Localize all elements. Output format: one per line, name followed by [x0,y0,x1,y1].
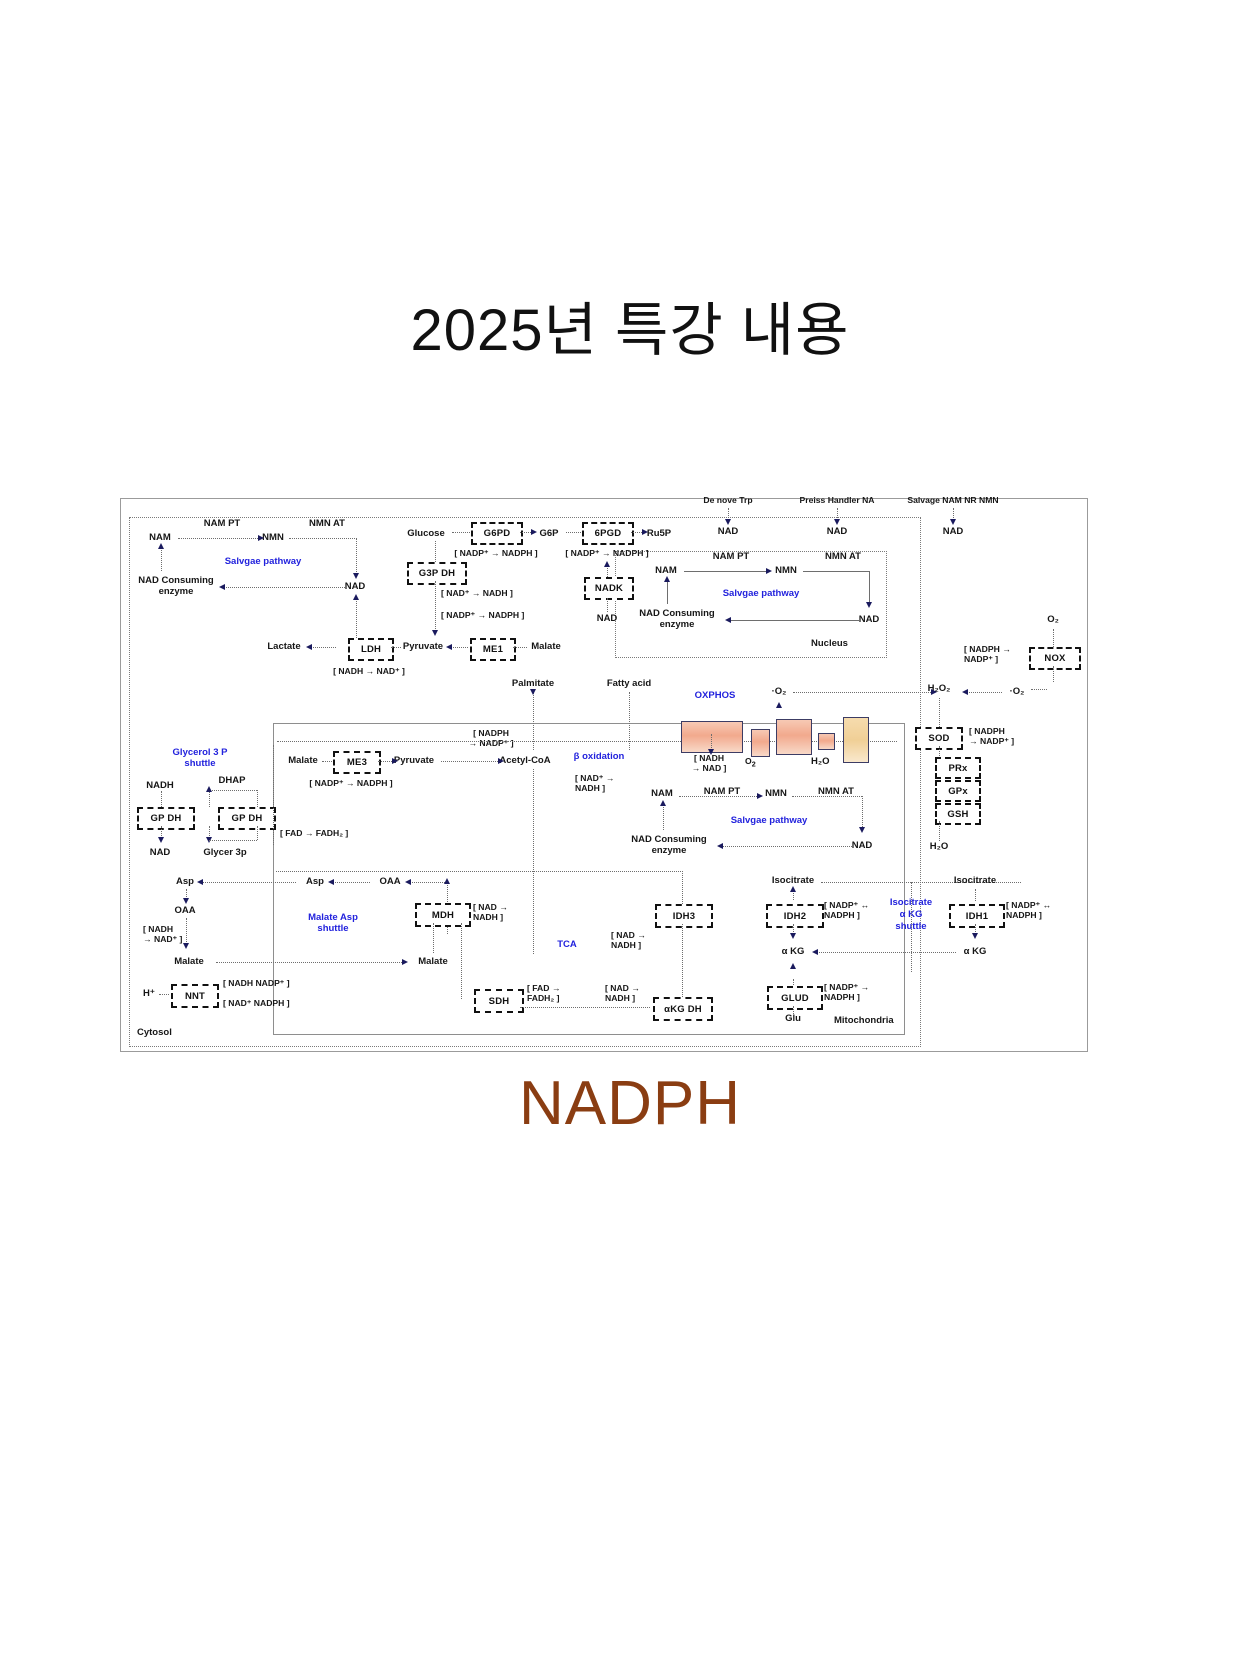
nox-cofactor-label: [ NADPH → NADP⁺ ] [964,645,1011,665]
nad-source-3-label: NAD [943,527,964,538]
salvage-source-label: Salvage NAM NR NMN [907,496,998,506]
asp-nadh-cofactor-label: [ NADH → NAD⁺ ] [143,925,182,945]
nad-gp-label: NAD [150,848,171,859]
salvage-pathway-cytosol-label: Salvgae pathway [225,557,302,568]
glud-cofactor-label: [ NADP⁺ → NADPH ] [824,983,869,1003]
prx-label: PRx [948,763,967,774]
preiss-handler-label: Preiss Handler NA [800,496,875,506]
g3pdh-label: G3P DH [419,568,455,579]
ldh-cofactor-label: [ NADH → NAD⁺ ] [333,667,405,677]
gpdh-fad-label: [ FAD → FADH₂ ] [280,829,348,839]
h2o-oxphos-label: H₂O [811,757,829,768]
gpx-label: GPx [948,786,968,797]
de-novo-trp-label: De nove Trp [703,496,752,506]
superoxide-mito-label: ·O₂ [772,687,787,698]
g6pd-label: G6PD [484,528,511,539]
oxphos-complex-iii [776,719,812,755]
idh3-enzyme-box[interactable]: IDH3 [655,904,713,928]
malate-mito-label: Malate [418,957,448,968]
idh1-cofactor-label: [ NADP⁺ ↔ NADPH ] [1006,901,1051,921]
idh1-label: IDH1 [966,911,988,922]
nadk-enzyme-box[interactable]: NADK [584,577,634,600]
nnt-top-cofactor-label: [ NADH NADP⁺ ] [223,979,290,989]
me1-label: ME1 [483,644,503,655]
6pgd-enzyme-box[interactable]: 6PGD [582,522,634,545]
g3pdh-enzyme-box[interactable]: G3P DH [407,562,467,585]
superoxide-cytosol-label: ·O₂ [1010,687,1025,698]
nadh-gp-label: NADH [146,781,173,792]
sdh-enzyme-box[interactable]: SDH [474,989,524,1013]
salvage-pathway-nucleus-label: Salvgae pathway [723,589,800,600]
akgdh-label: αKG DH [664,1004,702,1015]
salvage-pathway-mito-label: Salvgae pathway [731,816,808,827]
nad-mito-label: NAD [852,841,873,852]
akg-cytosol-label: α KG [964,947,987,958]
g6pd-enzyme-box[interactable]: G6PD [471,522,523,545]
cytosol-label: Cytosol [137,1028,172,1039]
nad-consuming-enzyme-mito-label: NAD Consuming enzyme [631,835,706,857]
lactate-label: Lactate [267,642,300,653]
isocitrate-cytosol-label: Isocitrate [954,876,996,887]
complex-iv-o2-label: O2 [745,757,756,769]
prx-enzyme-box[interactable]: PRx [935,757,981,779]
nnt-label: NNT [185,991,205,1002]
oxphos-atp-synthase [843,717,869,763]
malate-cytosol-label: Malate [174,957,204,968]
mdh-label: MDH [432,910,454,921]
ru5p-label: Ru5P [647,529,671,540]
oxphos-label: OXPHOS [695,691,736,702]
akg-mito-label: α KG [782,947,805,958]
nam-pt-1-label: NAM PT [204,519,240,530]
sdh-label: SDH [489,996,510,1007]
h-plus-label: H⁺ [143,989,155,1000]
nmn-at-2-label: NMN AT [825,552,861,563]
nmn-at-1-label: NMN AT [309,519,345,530]
me3-label: ME3 [347,757,367,768]
nmn-mito-label: NMN [765,789,787,800]
gsh-label: GSH [947,809,968,820]
me1-enzyme-box[interactable]: ME1 [470,638,516,661]
6pgd-cofactor-label: [ NADP⁺ → NADPH ] [565,549,648,559]
glycer3p-label: Glycer 3p [203,848,246,859]
nad-consuming-enzyme-nucleus-label: NAD Consuming enzyme [639,609,714,631]
nox-enzyme-box[interactable]: NOX [1029,647,1081,670]
nnt-bottom-cofactor-label: [ NAD⁺ NADPH ] [223,999,290,1009]
tca-label: TCA [557,940,577,951]
gpdh-a-label: GP DH [151,813,182,824]
nad-nucleus-label: NAD [859,615,880,626]
me3-enzyme-box[interactable]: ME3 [333,751,381,774]
nucleus-label: Nucleus [811,639,848,650]
nox-label: NOX [1044,653,1065,664]
idh2-enzyme-box[interactable]: IDH2 [766,904,824,928]
beta-ox-cofactor-label: [ NAD⁺ → NADH ] [575,774,614,794]
o2-nox-label: O₂ [1047,615,1059,626]
mitochondria-label: Mitochondria [834,1016,894,1027]
glycerol3p-shuttle-label: Glycerol 3 P shuttle [173,748,228,770]
sdh-cofactor-label: [ FAD → FADH₂ ] [527,984,560,1004]
nadk-label: NADK [595,583,623,594]
oaa-mito-label: OAA [379,877,400,888]
6pgd-label: 6PGD [595,528,622,539]
nnt-enzyme-box[interactable]: NNT [171,984,219,1008]
glud-enzyme-box[interactable]: GLUD [767,986,823,1010]
ldh-enzyme-box[interactable]: LDH [348,638,394,661]
asp-mito-label: Asp [306,877,324,888]
page-footer-title: NADPH [0,1068,1260,1139]
mdh-cofactor-label: [ NAD → NADH ] [473,903,508,923]
nam-mito-label: NAM [651,789,673,800]
sod-nadph-label: [ NADPH → NADP⁺ ] [969,727,1014,747]
h2o-gsh-label: H₂O [930,842,948,853]
g6pd-cofactor-label: [ NADP⁺ → NADPH ] [454,549,537,559]
akgdh-enzyme-box[interactable]: αKG DH [653,997,713,1021]
gpx-enzyme-box[interactable]: GPx [935,780,981,802]
nad-cytosol-label: NAD [345,582,366,593]
nad-source-1-label: NAD [718,527,739,538]
akgdh-cofactor-label: [ NAD → NADH ] [605,984,640,1004]
pathway-diagram: Cytosol Mitochondria Nucleus NAM NAM PT … [120,498,1088,1052]
nam-pt-2-label: NAM PT [713,552,749,563]
me3-cofactor-label: [ NADP⁺ → NADPH ] [309,779,392,789]
gpdh-b-label: GP DH [232,813,263,824]
pyruvate-cytosol-label: Pyruvate [403,642,443,653]
gpdh-a-enzyme-box[interactable]: GP DH [137,807,195,830]
malate-me1-label: Malate [531,642,561,653]
ldh-label: LDH [361,644,381,655]
page-title: 2025년 특강 내용 [0,283,1260,367]
nmn-cytosol-label: NMN [262,533,284,544]
pyruvate-mito-label: Pyruvate [394,756,434,767]
idh1-enzyme-box[interactable]: IDH1 [949,904,1005,928]
sod-label: SOD [928,733,949,744]
g3pdh-nad-cofactor-label: [ NAD⁺ → NADH ] [441,589,513,599]
nad-nadk-label: NAD [597,614,618,625]
fatty-acid-label: Fatty acid [607,679,651,690]
dhap-label: DHAP [219,776,246,787]
me1-cofactor-label: [ NADPH → NADP⁺ ] [468,729,513,749]
oxphos-nadh-label: [ NADH → NAD ] [692,754,727,774]
idh2-cofactor-label: [ NADP⁺ ↔ NADPH ] [824,901,869,921]
gsh-enzyme-box[interactable]: GSH [935,803,981,825]
nmn-nucleus-label: NMN [775,566,797,577]
idh3-label: IDH3 [673,911,695,922]
nad-consuming-enzyme-cytosol-label: NAD Consuming enzyme [138,576,213,598]
acetyl-coa-label: Acetyl-CoA [499,756,550,767]
asp-cytosol-label: Asp [176,877,194,888]
malate-asp-shuttle-label: Malate Asp shuttle [308,913,358,935]
idh3-cofactor-label: [ NAD → NADH ] [611,931,646,951]
mdh-enzyme-box[interactable]: MDH [415,903,471,927]
gpdh-b-enzyme-box[interactable]: GP DH [218,807,276,830]
beta-oxidation-label: β oxidation [574,752,625,763]
g3pdh-nadp-cofactor-label: [ NADP⁺ → NADPH ] [441,611,524,621]
idh2-label: IDH2 [784,911,806,922]
glud-label: GLUD [781,993,809,1004]
oxphos-complex-iv [818,733,835,750]
glucose-label: Glucose [407,529,445,540]
g6p-label: G6P [539,529,558,540]
oaa-cytosol-label: OAA [174,906,195,917]
glu-label: Glu [785,1014,801,1025]
nad-source-2-label: NAD [827,527,848,538]
oxphos-complex-ii [751,729,770,757]
malate-me3-label: Malate [288,756,318,767]
